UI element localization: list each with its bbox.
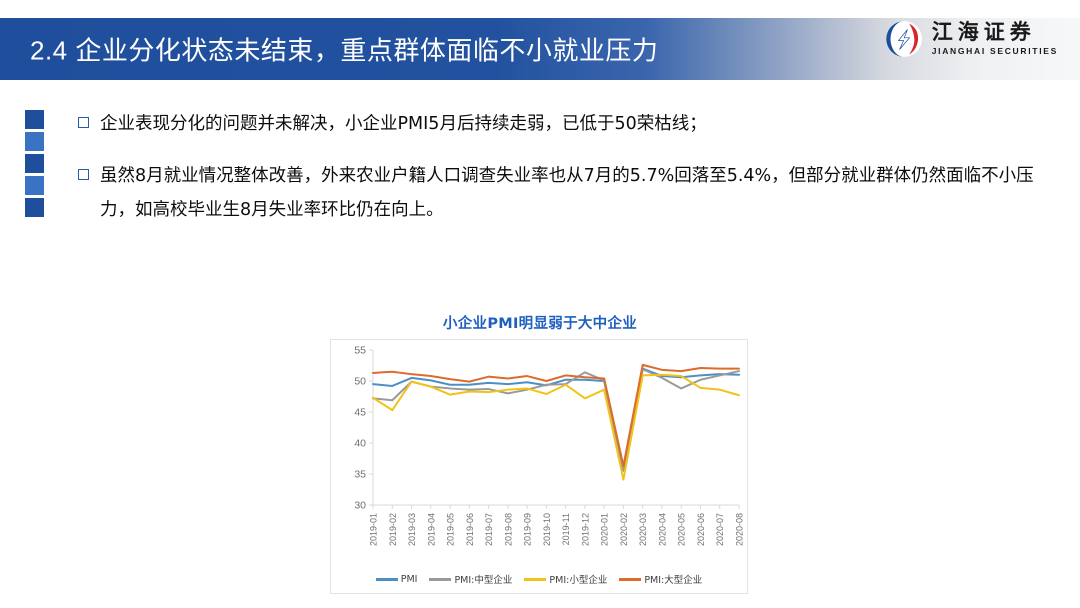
svg-text:45: 45	[354, 407, 366, 419]
svg-text:2020-02: 2020-02	[619, 513, 629, 546]
legend-swatch-icon	[524, 578, 546, 581]
svg-text:2019-03: 2019-03	[407, 513, 417, 546]
svg-text:2019-08: 2019-08	[503, 513, 513, 546]
chart-canvas: 3035404550552019-012019-022019-032019-04…	[331, 340, 747, 593]
svg-text:2019-12: 2019-12	[580, 513, 590, 546]
svg-text:35: 35	[354, 469, 366, 481]
bullet-square-icon	[78, 169, 89, 180]
legend-item[interactable]: PMI:大型企业	[619, 572, 702, 586]
legend-item[interactable]: PMI	[376, 574, 418, 585]
decor-square-1	[25, 110, 44, 129]
pmi-chart: 小企业PMI明显弱于大中企业 3035404550552019-012019-0…	[330, 312, 750, 592]
svg-text:55: 55	[354, 345, 366, 357]
chart-title: 小企业PMI明显弱于大中企业	[330, 312, 750, 333]
legend-item[interactable]: PMI:小型企业	[524, 572, 607, 586]
legend-swatch-icon	[429, 578, 451, 581]
svg-text:2020-05: 2020-05	[677, 513, 687, 546]
bullet-item: 虽然8月就业情况整体改善，外来农业户籍人口调查失业率也从7月的5.7%回落至5.…	[78, 160, 1048, 227]
svg-text:2020-06: 2020-06	[696, 513, 706, 546]
decor-square-5	[25, 198, 44, 217]
jianghai-emblem-icon	[885, 20, 923, 58]
legend-item[interactable]: PMI:中型企业	[429, 572, 512, 586]
svg-text:2019-01: 2019-01	[369, 513, 379, 546]
legend-swatch-icon	[619, 578, 641, 581]
legend-label: PMI:大型企业	[644, 572, 702, 586]
bullet-text: 虽然8月就业情况整体改善，外来农业户籍人口调查失业率也从7月的5.7%回落至5.…	[100, 160, 1048, 227]
svg-text:2020-04: 2020-04	[657, 513, 667, 546]
svg-text:2019-11: 2019-11	[561, 513, 571, 545]
svg-text:40: 40	[354, 438, 366, 450]
decor-square-stack	[25, 110, 44, 217]
logo-chinese-name: 江海证券	[932, 22, 1058, 43]
svg-text:2020-08: 2020-08	[735, 513, 745, 546]
svg-text:50: 50	[354, 376, 366, 388]
svg-text:2020-07: 2020-07	[715, 513, 725, 546]
legend-label: PMI:中型企业	[454, 572, 512, 586]
svg-text:2019-06: 2019-06	[465, 513, 475, 546]
body-content: 企业表现分化的问题并未解决，小企业PMI5月后持续走弱，已低于50荣枯线； 虽然…	[78, 108, 1048, 246]
svg-text:2020-03: 2020-03	[638, 513, 648, 546]
svg-text:2019-05: 2019-05	[446, 513, 456, 546]
svg-text:2019-09: 2019-09	[523, 513, 533, 546]
bullet-square-icon	[78, 117, 89, 128]
svg-text:30: 30	[354, 500, 366, 512]
page-title: 2.4 企业分化状态未结束，重点群体面临不小就业压力	[30, 31, 658, 68]
logo-english-name: JIANGHAI SECURITIES	[932, 47, 1058, 56]
brand-logo: 江海证券 JIANGHAI SECURITIES	[885, 20, 1058, 58]
legend-label: PMI:小型企业	[549, 572, 607, 586]
decor-square-4	[25, 176, 44, 195]
legend-label: PMI	[401, 574, 418, 585]
decor-square-2	[25, 132, 44, 151]
decor-square-3	[25, 154, 44, 173]
bullet-text: 企业表现分化的问题并未解决，小企业PMI5月后持续走弱，已低于50荣枯线；	[100, 108, 707, 141]
bullet-item: 企业表现分化的问题并未解决，小企业PMI5月后持续走弱，已低于50荣枯线；	[78, 108, 1048, 141]
chart-plot-container: 3035404550552019-012019-022019-032019-04…	[330, 339, 748, 594]
svg-text:2019-07: 2019-07	[484, 513, 494, 546]
svg-text:2019-02: 2019-02	[388, 513, 398, 546]
legend-swatch-icon	[376, 578, 398, 581]
svg-text:2020-01: 2020-01	[600, 513, 610, 546]
chart-legend: PMIPMI:中型企业PMI:小型企业PMI:大型企业	[331, 572, 747, 586]
svg-text:2019-04: 2019-04	[426, 513, 436, 546]
svg-text:2019-10: 2019-10	[542, 513, 552, 546]
